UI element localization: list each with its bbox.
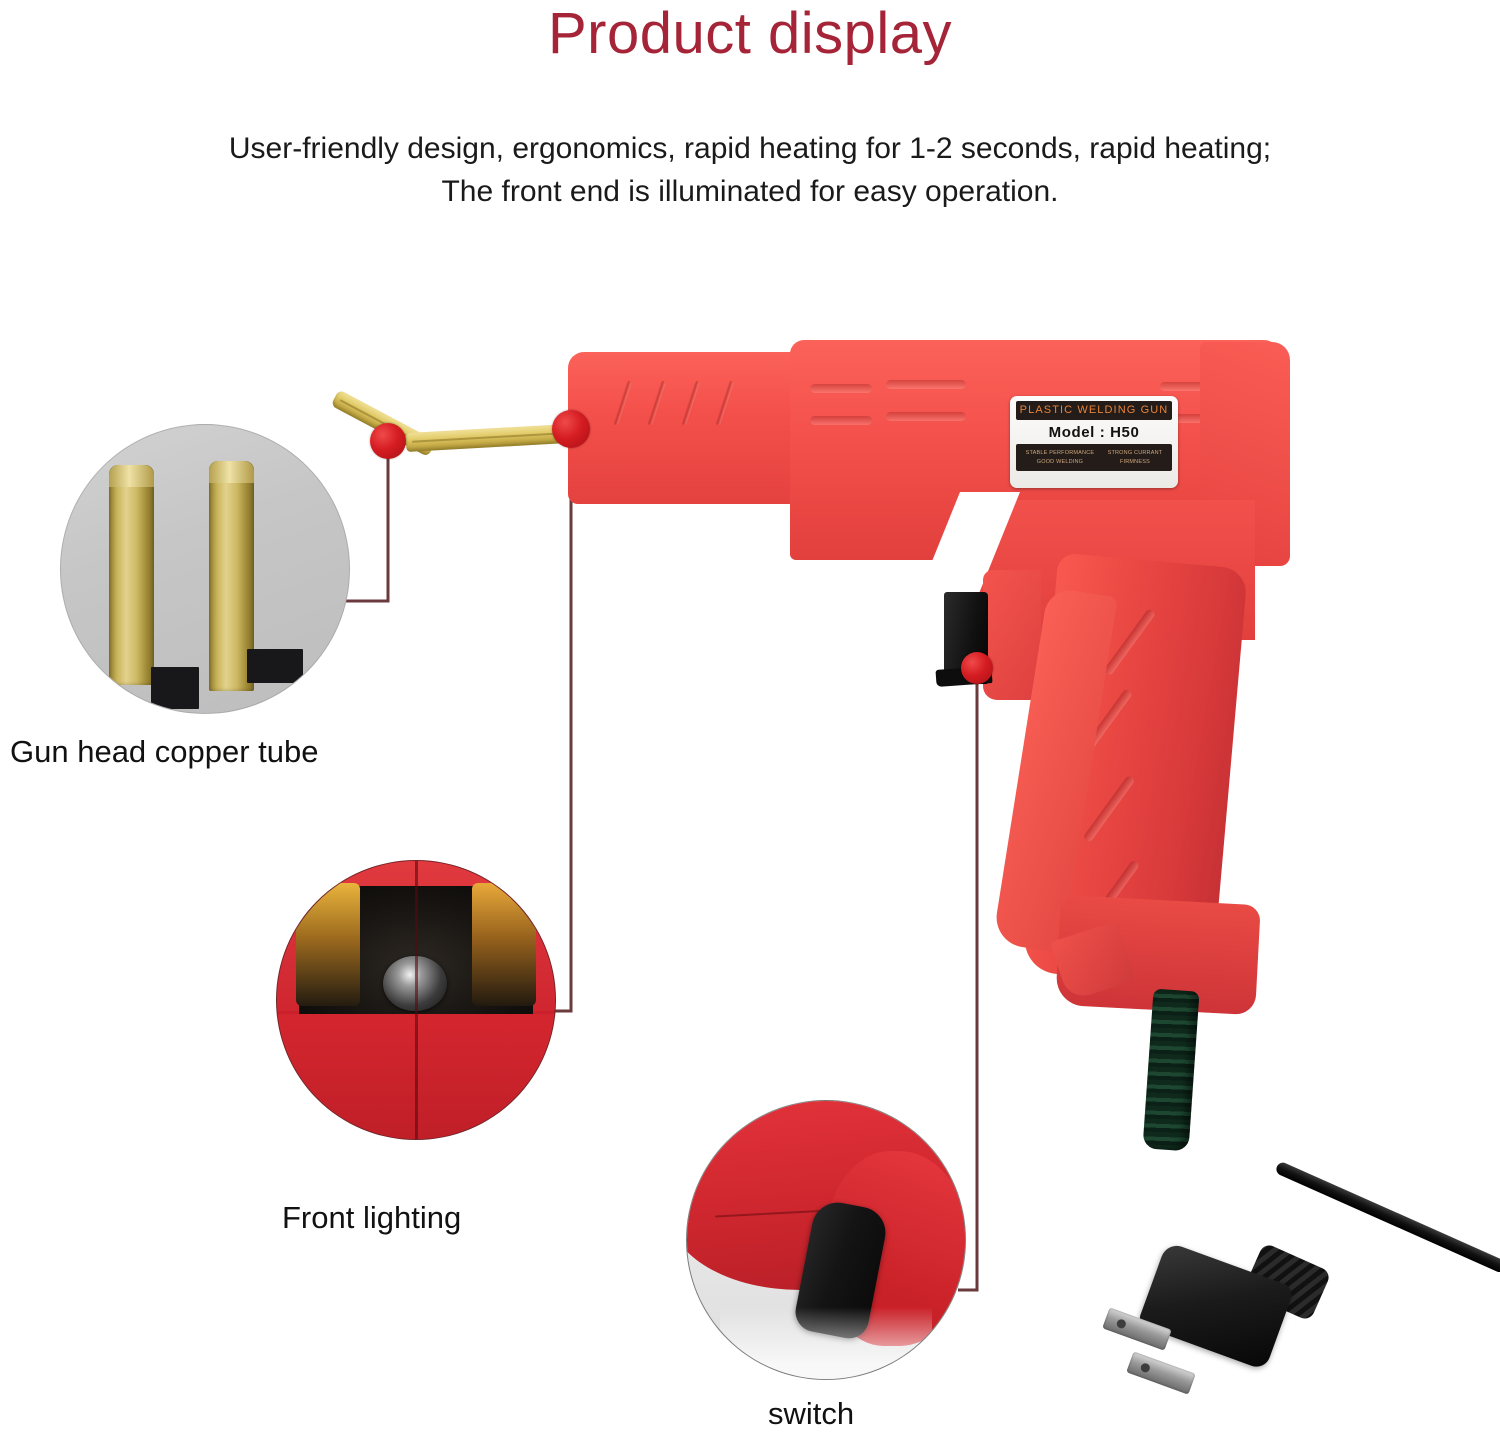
nameplate-feature-right: STRONG CURRANT FIRMNESS	[1108, 449, 1163, 466]
feature-right-line-2: FIRMNESS	[1108, 458, 1163, 466]
feature-left-line-2: GOOD WELDING	[1026, 458, 1095, 466]
vent-slot-icon	[647, 380, 666, 425]
plug-prong-icon	[1126, 1351, 1196, 1394]
cord-strain-relief	[1142, 989, 1199, 1152]
welding-gun-product: PLASTIC WELDING GUN Model : H50 STABLE P…	[0, 0, 1500, 1442]
vent-slot-icon	[886, 412, 966, 421]
product-nameplate: PLASTIC WELDING GUN Model : H50 STABLE P…	[1010, 396, 1178, 488]
vent-slot-icon	[715, 380, 734, 425]
nameplate-model: Model : H50	[1016, 424, 1172, 440]
marker-dot-switch	[961, 652, 993, 684]
nameplate-features: STABLE PERFORMANCE GOOD WELDING STRONG C…	[1016, 444, 1172, 471]
grip-groove-icon	[1082, 775, 1135, 843]
vent-slot-icon	[613, 380, 632, 425]
feature-right-line-1: STRONG CURRANT	[1108, 449, 1163, 457]
prong-hole	[1140, 1362, 1152, 1374]
prong-hole	[1116, 1318, 1128, 1330]
product-display-page: Product display User-friendly design, er…	[0, 0, 1500, 1442]
nameplate-feature-left: STABLE PERFORMANCE GOOD WELDING	[1026, 449, 1095, 466]
nameplate-brand: PLASTIC WELDING GUN	[1016, 401, 1172, 420]
vent-slot-icon	[886, 380, 966, 389]
feature-left-line-1: STABLE PERFORMANCE	[1026, 449, 1095, 457]
marker-dot-nozzle-base	[552, 410, 590, 448]
vent-slot-icon	[681, 380, 700, 425]
vent-slot-icon	[810, 416, 872, 425]
callout-label-switch: switch	[768, 1396, 854, 1432]
vent-slot-icon	[810, 384, 872, 393]
callout-label-front-lighting: Front lighting	[282, 1200, 461, 1236]
marker-dot-nozzle-tip	[370, 423, 406, 459]
callout-label-copper-tube: Gun head copper tube	[10, 734, 319, 770]
power-cable	[1274, 1161, 1500, 1275]
